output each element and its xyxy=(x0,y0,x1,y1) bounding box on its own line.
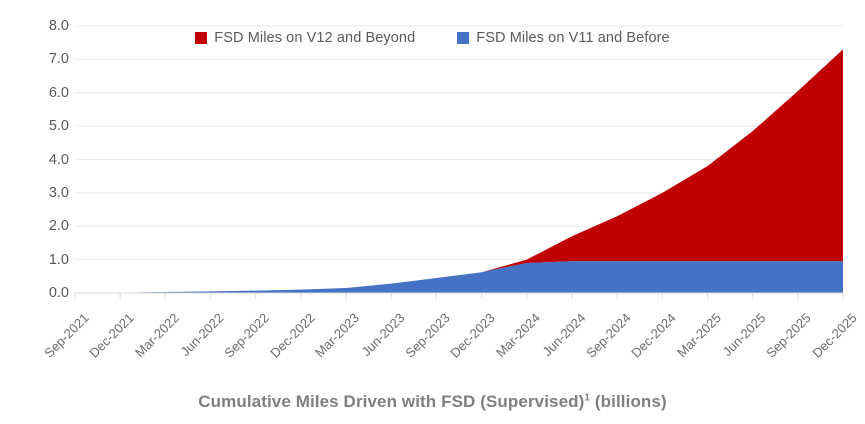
y-axis-tick-label: 1.0 xyxy=(17,252,69,268)
y-axis-tick-label: 4.0 xyxy=(17,152,69,168)
y-axis-tick-label: 8.0 xyxy=(17,18,69,34)
plot-area xyxy=(0,0,865,424)
chart-axis-title: Cumulative Miles Driven with FSD (Superv… xyxy=(0,392,865,412)
y-axis-tick-label: 3.0 xyxy=(17,185,69,201)
axis-title-units: (billions) xyxy=(590,392,667,411)
area-series-v11-and-before xyxy=(75,261,843,293)
y-axis-tick-label: 5.0 xyxy=(17,118,69,134)
y-axis-tick-label: 6.0 xyxy=(17,85,69,101)
x-axis-line-and-ticks xyxy=(75,293,843,299)
y-axis-tick-label: 7.0 xyxy=(17,51,69,67)
area-series-v12-and-beyond xyxy=(75,49,843,293)
axis-title-main: Cumulative Miles Driven with FSD (Superv… xyxy=(198,392,584,411)
stacked-area-series xyxy=(75,49,843,293)
y-axis-tick-label: 0.0 xyxy=(17,285,69,301)
cumulative-fsd-miles-area-chart: FSD Miles on V12 and Beyond FSD Miles on… xyxy=(0,0,865,424)
y-axis-tick-label: 2.0 xyxy=(17,218,69,234)
